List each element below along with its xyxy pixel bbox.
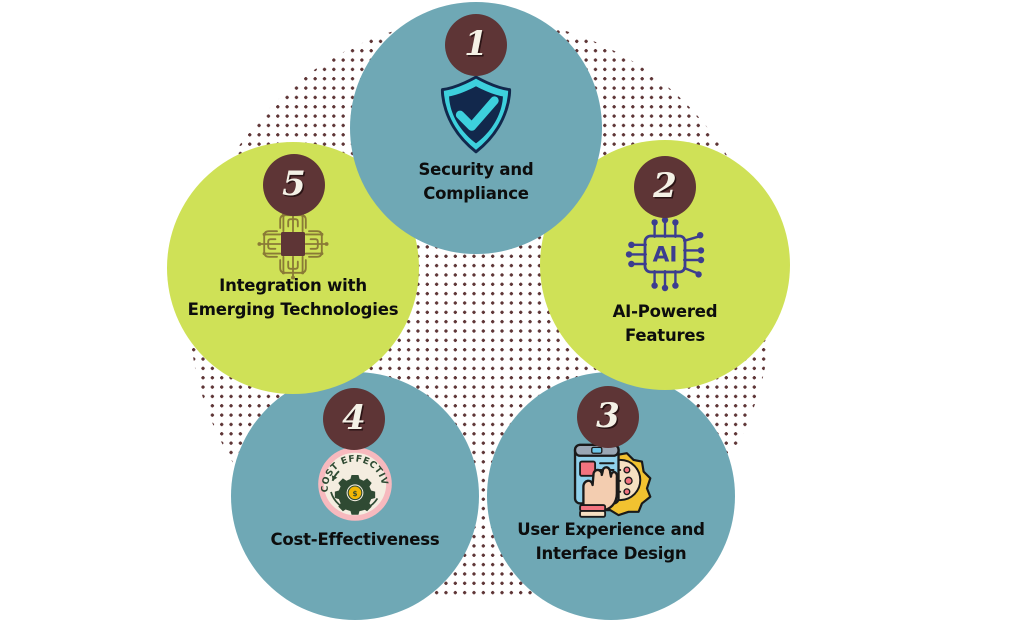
node-security-and-compliance[interactable]: 1 Security and Compliance [350, 2, 602, 254]
node-label-line: Integration with [167, 274, 419, 298]
shield-check-icon [434, 72, 518, 156]
node-label-line: Compliance [350, 182, 602, 206]
step-badge-4: 4 [323, 388, 385, 450]
node-label-line: Security and [350, 158, 602, 182]
node-label-5: Integration with Emerging Technologies [167, 274, 419, 323]
node-label-3: User Experience and Interface Design [487, 518, 735, 567]
step-badge-1: 1 [445, 14, 507, 76]
circuit-microchip-icon [253, 204, 333, 284]
node-label-line: Cost-Effectiveness [231, 528, 479, 552]
svg-text:$: $ [352, 489, 357, 498]
node-label-line: Features [540, 324, 790, 348]
step-badge-5: 5 [263, 154, 325, 216]
node-label-line: Emerging Technologies [167, 298, 419, 322]
step-number: 1 [464, 27, 488, 61]
node-label-line: User Experience and [487, 518, 735, 542]
hand-touch-interface-gear-icon [565, 438, 657, 522]
node-cost-effectiveness[interactable]: 4 COST EFFECTIVE [231, 372, 479, 620]
node-label-2: AI-Powered Features [540, 300, 790, 349]
node-user-experience-and-interface-design[interactable]: 3 [487, 372, 735, 620]
step-badge-2: 2 [634, 156, 696, 218]
ai-microchip-icon: AI [621, 212, 709, 296]
step-number: 3 [596, 399, 620, 433]
step-number: 5 [282, 167, 306, 201]
node-label-4: Cost-Effectiveness [231, 528, 479, 552]
cost-effective-gear-badge-icon: COST EFFECTIVE $ [315, 444, 395, 524]
node-label-line: AI-Powered [540, 300, 790, 324]
step-badge-3: 3 [577, 386, 639, 448]
step-number: 2 [653, 169, 677, 203]
infographic-canvas: 1 Security and Compliance 2 [0, 0, 1024, 621]
ai-icon-text: AI [653, 243, 678, 268]
node-label-1: Security and Compliance [350, 158, 602, 207]
node-label-line: Interface Design [487, 542, 735, 566]
step-number: 4 [342, 401, 366, 435]
